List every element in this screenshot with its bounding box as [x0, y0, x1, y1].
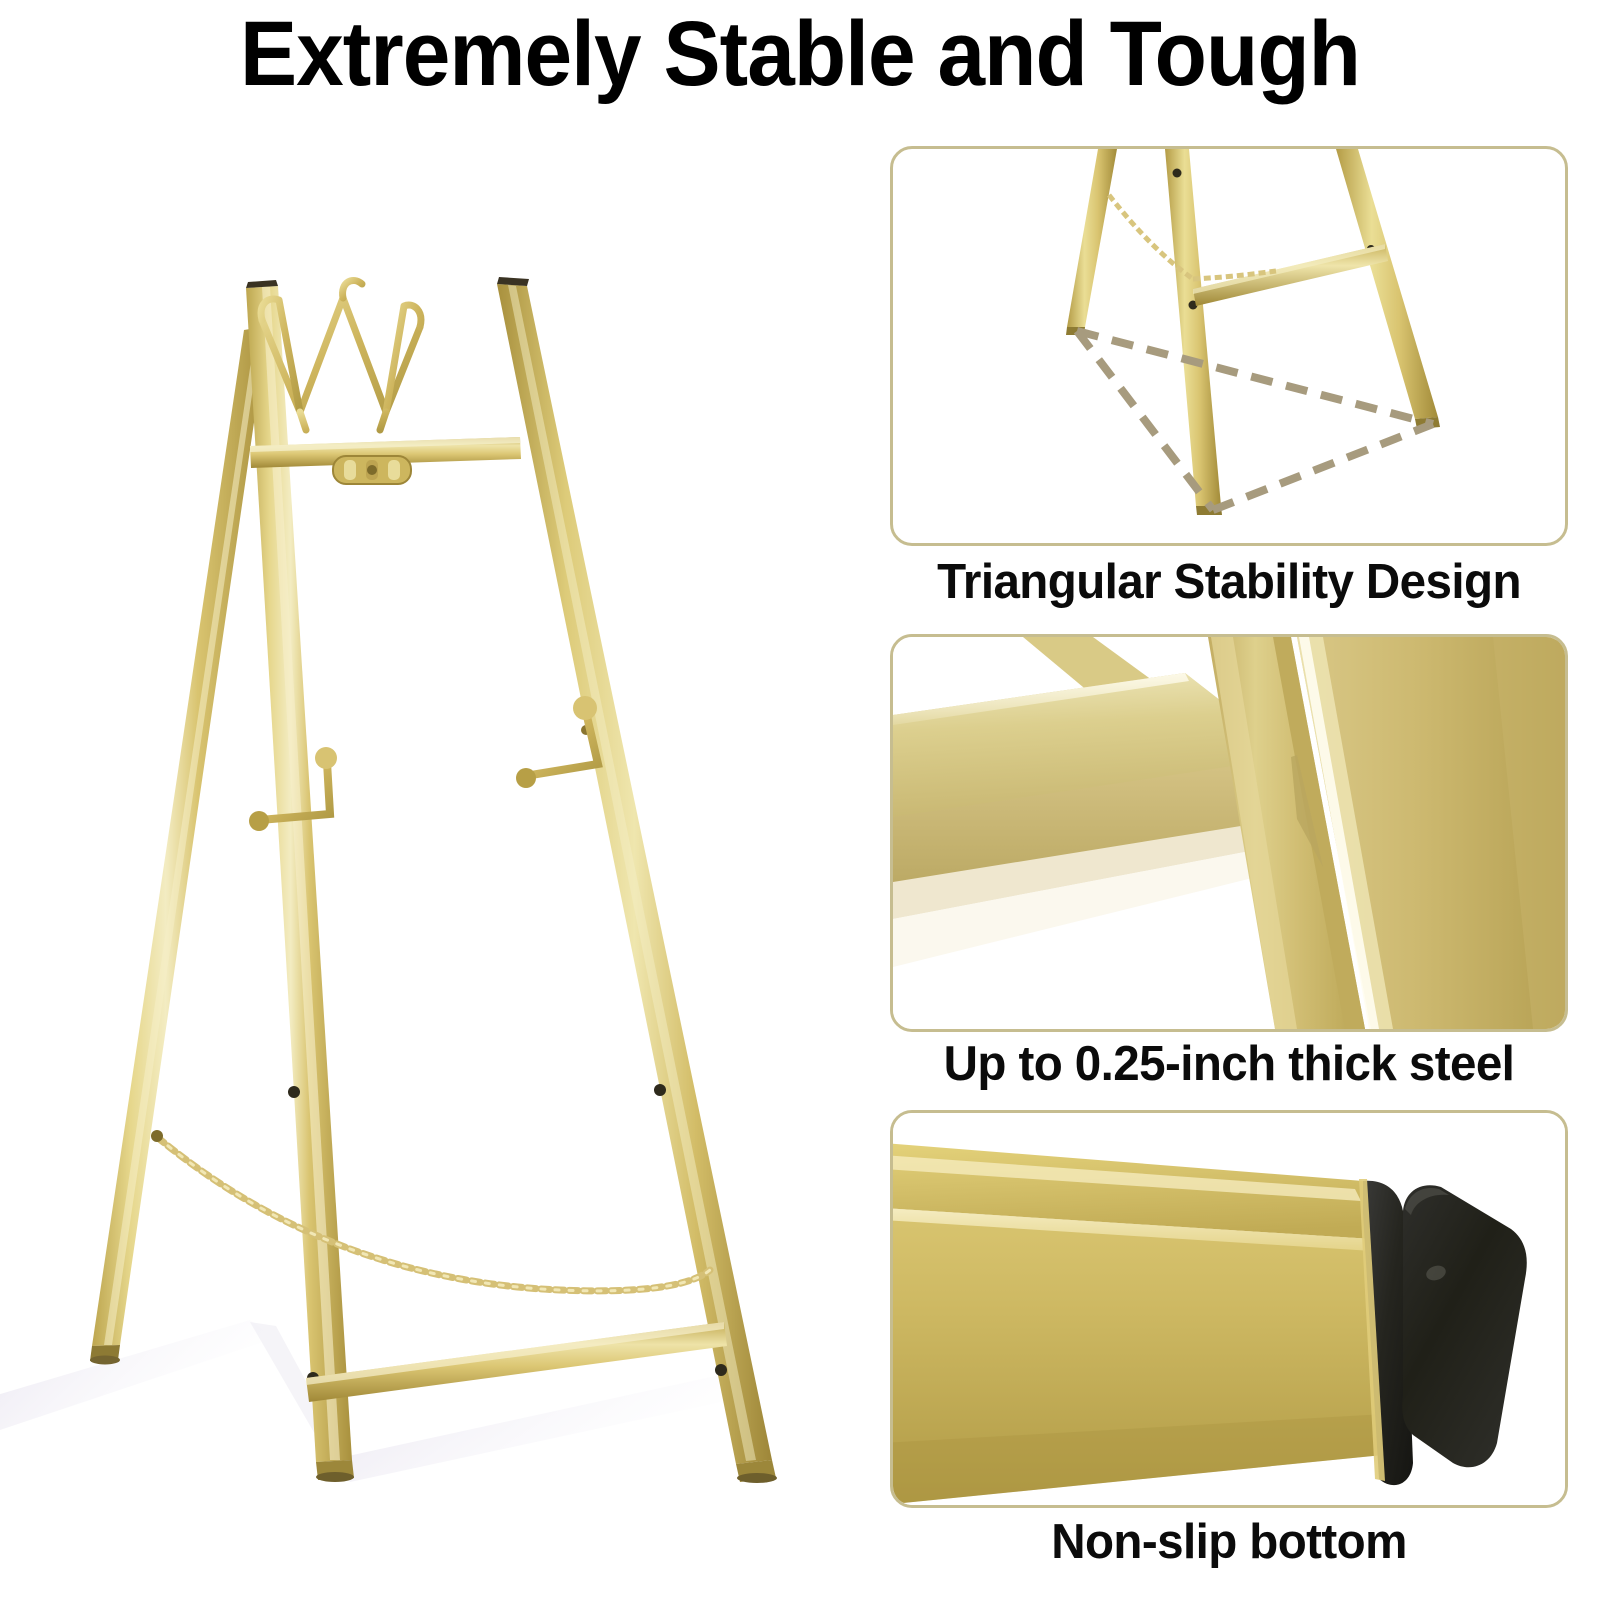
front-right-leg — [497, 277, 777, 1483]
rear-support-leg — [90, 326, 268, 1365]
panel-1-caption: Triangular Stability Design — [900, 554, 1558, 610]
page-title: Extremely Stable and Tough — [56, 8, 1544, 100]
safety-chain — [151, 1130, 710, 1291]
right-hook-mount — [516, 768, 536, 788]
panel1-right-leg — [1336, 149, 1440, 429]
panel1-rear-leg — [1066, 149, 1117, 335]
left-hook-ball — [315, 747, 337, 769]
right-support-hook — [525, 712, 598, 776]
panel-3-caption: Non-slip bottom — [900, 1514, 1558, 1570]
thick-steel-panel — [890, 634, 1568, 1032]
panel1-cross-brace — [1193, 244, 1388, 306]
non-slip-bottom-panel — [890, 1110, 1568, 1508]
hero-product-image — [0, 130, 860, 1510]
gold-tube-leg — [893, 1143, 1403, 1505]
thick-steel-macro-illustration — [893, 637, 1565, 1029]
left-hook-mount — [249, 811, 269, 831]
triangular-stability-illustration — [893, 149, 1565, 543]
infographic-page: Extremely Stable and Tough — [0, 0, 1600, 1600]
footprint-triangle-dashed — [1077, 331, 1433, 510]
panel-2-caption: Up to 0.25-inch thick steel — [900, 1036, 1558, 1092]
right-hook-ball — [573, 696, 597, 720]
pivot-hinge — [333, 456, 411, 484]
easel-illustration — [0, 130, 860, 1510]
non-slip-bottom-illustration — [893, 1113, 1565, 1505]
triangular-stability-panel — [890, 146, 1568, 546]
